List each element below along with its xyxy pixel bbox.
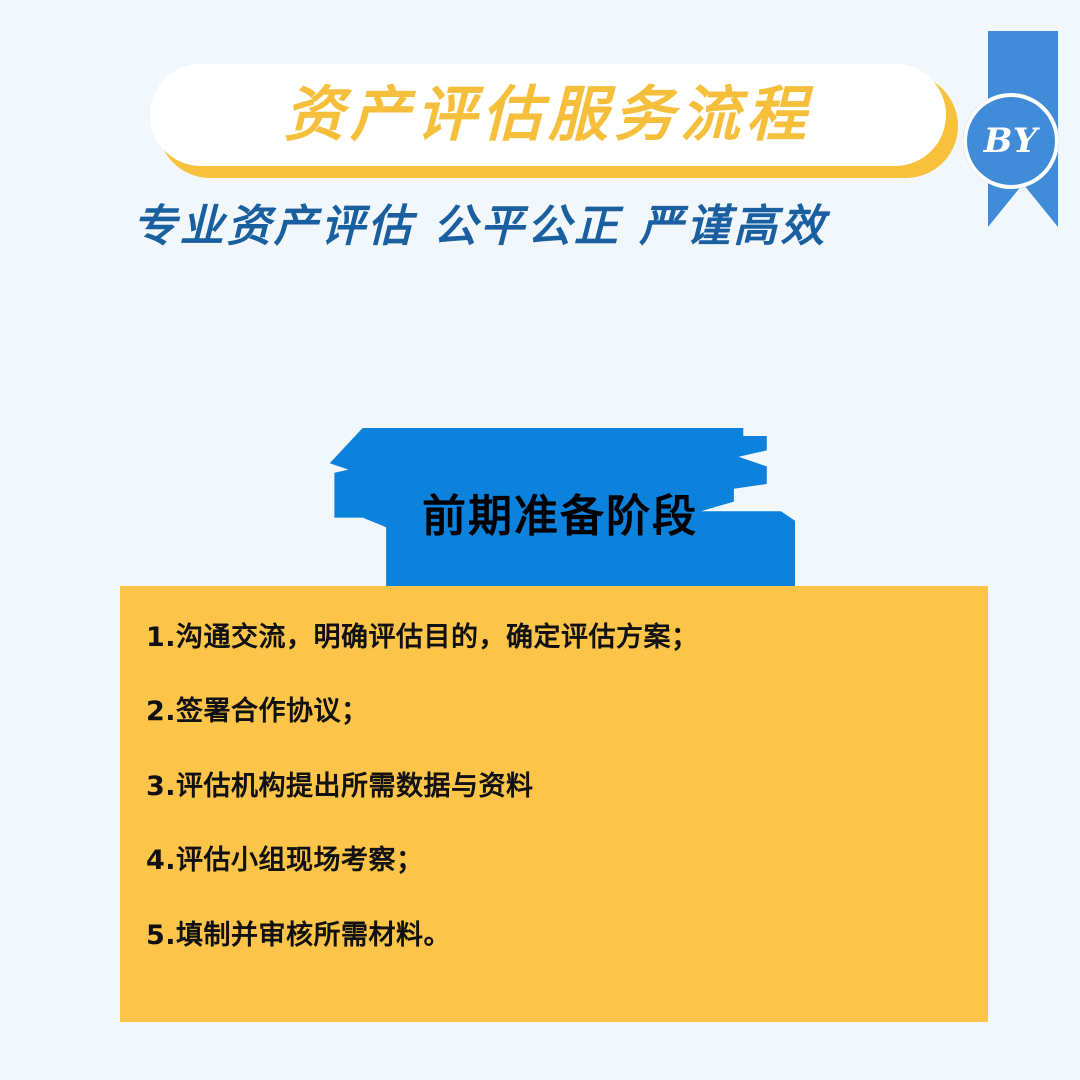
stage-banner: 前期准备阶段 xyxy=(325,428,795,588)
poster-canvas: 资产评估服务流程 专业资产评估 公平公正 严谨高效 BY 前期准备阶段 1.沟通… xyxy=(0,0,1080,1080)
list-item: 1.沟通交流，明确评估目的，确定评估方案； xyxy=(146,622,962,654)
stage-title: 前期准备阶段 xyxy=(325,480,795,544)
brand-initials: BY xyxy=(963,93,1059,189)
list-item: 2.签署合作协议； xyxy=(146,696,962,728)
page-subtitle: 专业资产评估 公平公正 严谨高效 xyxy=(0,190,960,254)
list-item: 5.填制并审核所需材料。 xyxy=(146,920,962,952)
list-item: 4.评估小组现场考察； xyxy=(146,845,962,877)
title-banner: 资产评估服务流程 xyxy=(150,64,950,172)
stage-content-card: 1.沟通交流，明确评估目的，确定评估方案； 2.签署合作协议； 3.评估机构提出… xyxy=(120,586,988,1022)
page-title: 资产评估服务流程 xyxy=(150,64,946,166)
list-item: 3.评估机构提出所需数据与资料 xyxy=(146,771,962,803)
step-list: 1.沟通交流，明确评估目的，确定评估方案； 2.签署合作协议； 3.评估机构提出… xyxy=(146,622,962,952)
seal-icon: BY xyxy=(963,93,1059,189)
